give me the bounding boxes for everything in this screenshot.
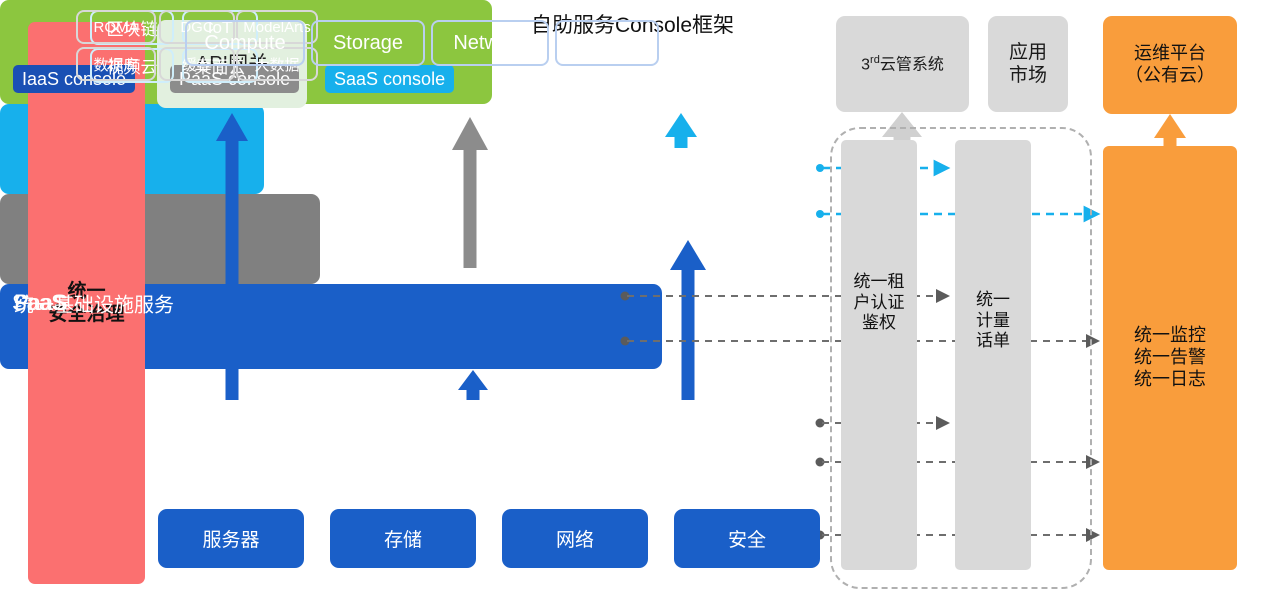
unified-tenant-auth-column[interactable]: 统一租户认证鉴权 bbox=[841, 140, 917, 570]
unified-metering-label: 统一计量话单 bbox=[976, 290, 1010, 352]
arrow-paas-to-console bbox=[452, 117, 488, 268]
arrow-infra-to-paas bbox=[458, 370, 488, 400]
arrow-infra-to-saas bbox=[670, 240, 706, 400]
unified-tenant-auth-label: 统一租户认证鉴权 bbox=[854, 272, 905, 334]
ops-platform-box[interactable]: 运维平台（公有云） bbox=[1103, 16, 1237, 114]
app-market-label: 应用市场 bbox=[1009, 41, 1047, 87]
hardware-box-security[interactable]: 安全 bbox=[674, 509, 820, 568]
paas-tag-roma[interactable]: ROMA bbox=[76, 10, 156, 44]
third-party-cloud-mgmt-label: 3rd云管系统 bbox=[861, 54, 944, 75]
hardware-box-storage[interactable]: 存储 bbox=[330, 509, 476, 568]
arrow-to-ops-platform bbox=[1154, 114, 1186, 146]
unified-monitoring-pillar[interactable]: 统一监控统一告警统一日志 bbox=[1103, 146, 1237, 570]
infra-tag-storage[interactable]: Storage bbox=[311, 20, 425, 66]
infra-tag-compute[interactable]: Compute bbox=[185, 20, 305, 66]
diagram-canvas: 统一安全治理 API网关 自助服务Console框架 IaaS console … bbox=[0, 0, 1265, 605]
paas-tag-database[interactable]: 数据库 bbox=[76, 47, 156, 81]
hardware-box-network[interactable]: 网络 bbox=[502, 509, 648, 568]
infra-tag-cce[interactable]: CCE bbox=[555, 20, 659, 66]
infrastructure-label: 统一基础设施服务 bbox=[14, 288, 174, 317]
ops-platform-label: 运维平台（公有云） bbox=[1125, 43, 1215, 87]
unified-monitoring-label: 统一监控统一告警统一日志 bbox=[1134, 325, 1206, 391]
third-party-cloud-mgmt-box[interactable]: 3rd云管系统 bbox=[836, 16, 969, 112]
hardware-box-server[interactable]: 服务器 bbox=[158, 509, 304, 568]
infra-tag-network[interactable]: Network bbox=[431, 20, 549, 66]
arrow-saas-to-console bbox=[665, 113, 697, 148]
unified-metering-column[interactable]: 统一计量话单 bbox=[955, 140, 1031, 570]
app-market-box[interactable]: 应用市场 bbox=[988, 16, 1068, 112]
console-tag-saas[interactable]: SaaS console bbox=[325, 65, 454, 93]
